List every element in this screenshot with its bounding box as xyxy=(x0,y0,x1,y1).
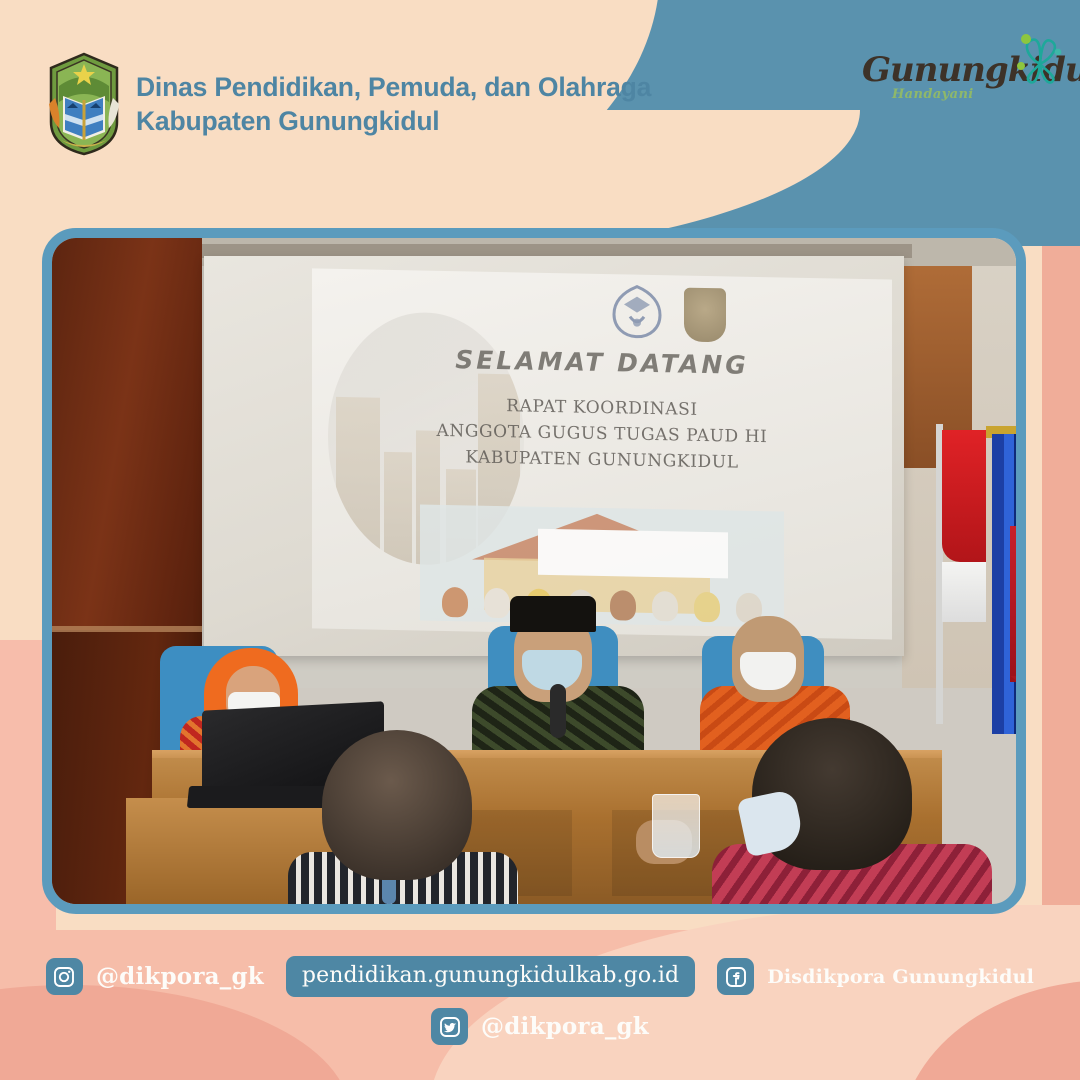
website-url-pill[interactable]: pendidikan.gunungkidulkab.go.id xyxy=(286,956,695,997)
instagram-link[interactable]: @dikpora_gk xyxy=(46,958,264,995)
slide-subtitle: RAPAT KOORDINASI ANGGOTA GUGUS TUGAS PAU… xyxy=(312,390,892,479)
wall-seam xyxy=(52,626,202,632)
photo-scene: SELAMAT DATANG RAPAT KOORDINASI ANGGOTA … xyxy=(52,238,1016,904)
peci-cap xyxy=(510,596,596,632)
page-title: Dinas Pendidikan, Pemuda, dan Olahraga K… xyxy=(136,70,756,139)
twitter-link[interactable]: @dikpora_gk xyxy=(431,1008,649,1045)
gunungkidul-pennant-banner xyxy=(1010,526,1016,682)
kemdikbud-tut-wuri-handayani-logo-icon xyxy=(610,282,664,341)
instagram-handle: @dikpora_gk xyxy=(96,963,264,990)
gunungkidul-brand-logo: Gunungkidul Handayani xyxy=(862,44,1062,122)
gunungkidul-regency-logo-icon xyxy=(684,288,726,343)
facebook-link[interactable]: Disdikpora Gunungkidul xyxy=(717,958,1034,995)
twitter-icon[interactable] xyxy=(431,1008,468,1045)
child-figure xyxy=(694,592,720,622)
butterfly-icon xyxy=(1010,30,1070,90)
child-figure xyxy=(610,590,636,620)
child-figure xyxy=(484,588,510,618)
gunungkidul-regency-emblem-icon xyxy=(45,52,123,156)
poster-canvas: Dinas Pendidikan, Pemuda, dan Olahraga K… xyxy=(0,0,1080,1080)
facebook-icon[interactable] xyxy=(717,958,754,995)
poster-header: Dinas Pendidikan, Pemuda, dan Olahraga K… xyxy=(0,0,1080,210)
microphone-icon xyxy=(550,684,566,738)
twitter-handle: @dikpora_gk xyxy=(481,1013,649,1040)
brand-tagline: Handayani xyxy=(892,87,974,102)
pennant-tip xyxy=(1010,676,1016,704)
house-signboard xyxy=(538,529,728,579)
instagram-icon[interactable] xyxy=(46,958,83,995)
indonesian-flag xyxy=(942,430,986,562)
child-figure xyxy=(442,587,468,617)
meeting-photo: SELAMAT DATANG RAPAT KOORDINASI ANGGOTA … xyxy=(42,228,1026,914)
drinking-cup xyxy=(652,794,700,858)
page-title-line1: Dinas Pendidikan, Pemuda, dan Olahraga xyxy=(136,70,756,104)
facebook-handle: Disdikpora Gunungkidul xyxy=(767,966,1034,988)
indonesian-flag-white-band xyxy=(942,562,986,622)
footer-row-secondary: @dikpora_gk xyxy=(0,1008,1080,1045)
poster-footer: @dikpora_gk pendidikan.gunungkidulkab.go… xyxy=(0,938,1080,1080)
attendee-back-of-head xyxy=(322,730,472,880)
footer-row-primary: @dikpora_gk pendidikan.gunungkidulkab.go… xyxy=(0,956,1080,997)
child-figure xyxy=(652,591,678,621)
presentation-slide: SELAMAT DATANG RAPAT KOORDINASI ANGGOTA … xyxy=(312,268,892,639)
school-children-illustration xyxy=(420,505,784,628)
page-title-line2: Kabupaten Gunungkidul xyxy=(136,104,756,138)
